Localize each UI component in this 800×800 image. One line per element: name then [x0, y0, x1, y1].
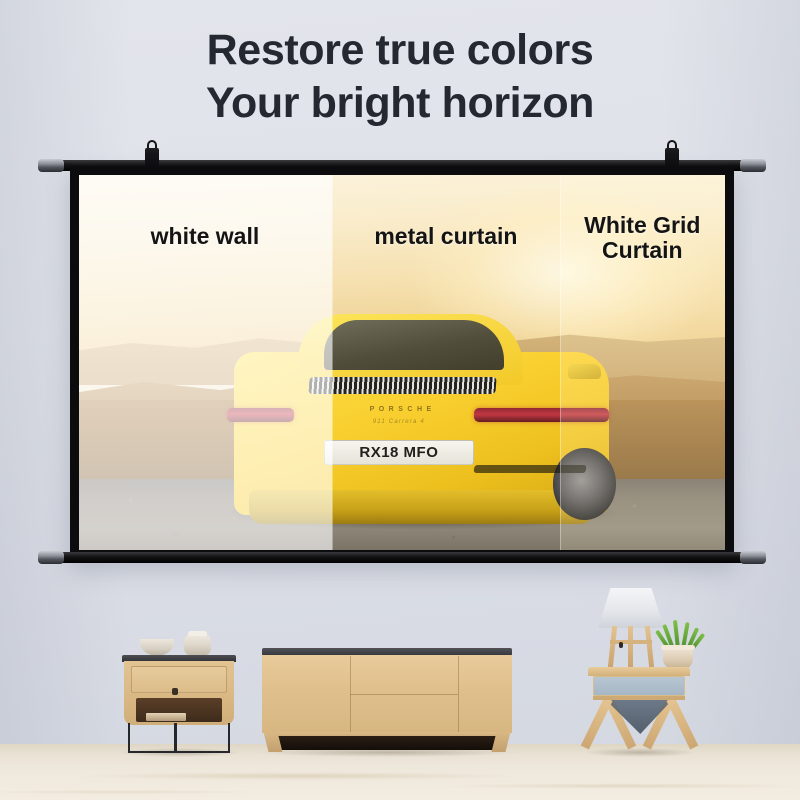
lamp-cross-bar [610, 640, 652, 644]
nightstand-leg-middle [174, 723, 177, 753]
rear-bumper [249, 490, 594, 524]
screen-surface: PORSCHE 911 Carrera 4 RX18 MFO white wal [79, 175, 725, 550]
lamp-post-middle [628, 626, 633, 668]
decor-vase-rim [188, 631, 207, 636]
car-rear-window [324, 320, 504, 370]
plant-pot [663, 647, 693, 669]
screen-frame: PORSCHE 911 Carrera 4 RX18 MFO white wal [70, 166, 734, 560]
porsche-badge: PORSCHE [316, 406, 488, 417]
screen-hook-left-icon [144, 140, 160, 166]
nightstand-drawer [131, 666, 227, 693]
label-metal-curtain: metal curtain [332, 224, 559, 250]
side-table-drawer [593, 676, 685, 696]
plant-pot-rim [661, 645, 695, 650]
lamp-wood-frame [610, 626, 652, 668]
label-white-grid-curtain: White Grid Curtain [560, 213, 725, 265]
rod-cap-bottom-left [38, 551, 64, 564]
decor-vase [184, 633, 211, 656]
side-mirror [568, 364, 602, 379]
nightstand-legs [128, 723, 230, 753]
rod-cap-top-right [740, 159, 766, 172]
room-scene: Restore true colors Your bright horizon [0, 0, 800, 800]
cubby-books [146, 713, 186, 721]
nightstand-case [124, 661, 234, 725]
porsche-car: PORSCHE 911 Carrera 4 RX18 MFO [234, 314, 609, 524]
nightstand-knob [172, 688, 178, 695]
taillight-right [474, 408, 609, 422]
lamp-post-right [645, 626, 654, 668]
headline: Restore true colors Your bright horizon [0, 24, 800, 130]
side-table-underframe [593, 696, 685, 700]
projector-screen: PORSCHE 911 Carrera 4 RX18 MFO white wal [38, 152, 766, 572]
rod-cap-top-left [38, 159, 64, 172]
license-plate: RX18 MFO [324, 440, 474, 465]
side-sill [473, 465, 587, 473]
headline-line-2: Your bright horizon [0, 77, 800, 130]
floor-grain [0, 752, 800, 800]
sideboard-seam-right [458, 656, 459, 732]
potted-plant [655, 617, 699, 669]
rod-cap-bottom-right [740, 551, 766, 564]
headline-line-1: Restore true colors [207, 26, 594, 74]
screen-hook-right-icon [664, 140, 680, 166]
lamp-switch [619, 642, 623, 648]
taillight-left [227, 408, 294, 422]
engine-grille [308, 377, 497, 394]
screen-bottom-rod [46, 552, 758, 563]
nightstand [122, 655, 236, 753]
side-table-top [588, 667, 690, 676]
lamp-post-left [608, 626, 617, 668]
sideboard-seam-horizontal [350, 694, 458, 695]
sideboard-recess [276, 736, 498, 750]
label-white-wall: white wall [92, 224, 318, 250]
rear-wheel [553, 448, 617, 519]
sideboard [262, 648, 512, 753]
model-badge: 911 Carrera 4 [324, 419, 474, 427]
side-table [588, 667, 690, 753]
